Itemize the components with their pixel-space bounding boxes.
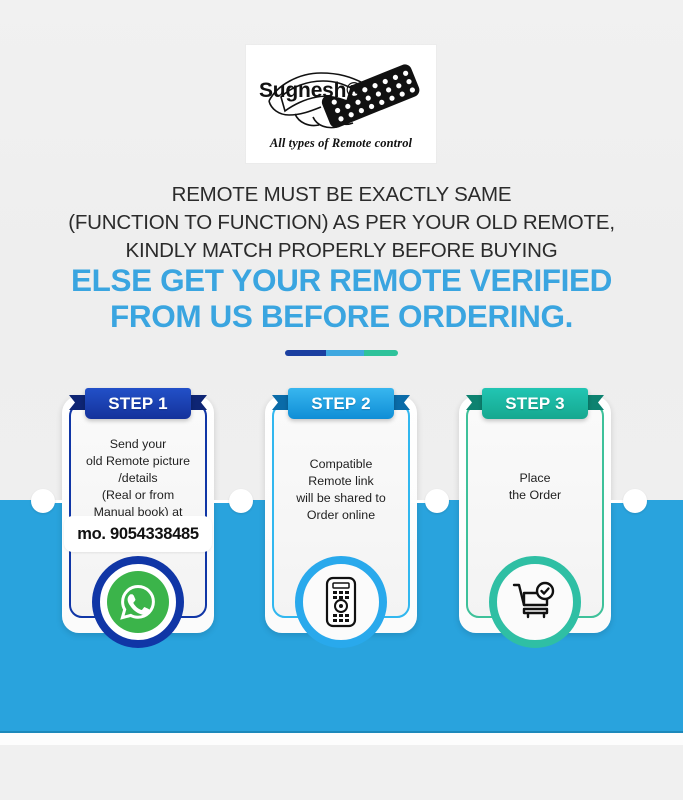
warning-headline-line-2: (FUNCTION TO FUNCTION) AS PER YOUR OLD R… <box>0 209 683 237</box>
connector-dot-2 <box>229 489 253 513</box>
call-to-action-headline: ELSE GET YOUR REMOTE VERIFIED FROM US BE… <box>0 262 683 334</box>
step-1-description: Send your old Remote picture /details (R… <box>62 436 214 521</box>
step-3-line-2: the Order <box>459 487 611 504</box>
logo-brand-text: Sugnesh® <box>259 79 362 103</box>
connector-dot-1 <box>31 489 55 513</box>
logo-tagline: All types of Remote control <box>270 136 412 151</box>
divider-segment-1 <box>285 350 326 356</box>
connector-dot-3 <box>425 489 449 513</box>
step-card-3-tab: STEP 3 <box>482 388 588 421</box>
step-2-tab-body: STEP 2 <box>288 388 394 419</box>
brand-logo: Sugnesh® All types of Remote control <box>246 45 436 163</box>
step-2-line-1: Compatible <box>265 456 417 473</box>
divider-segment-3 <box>364 350 398 356</box>
connector-dot-4 <box>623 489 647 513</box>
hand-holding-remote-icon: Sugnesh® <box>251 57 431 135</box>
step-1-line-1: Send your <box>62 436 214 453</box>
connector-line-3 <box>411 500 426 503</box>
bottom-gray-area <box>0 745 683 800</box>
warning-headline-line-3: KINDLY MATCH PROPERLY BEFORE BUYING <box>0 237 683 265</box>
cta-headline-line-1: ELSE GET YOUR REMOTE VERIFIED <box>0 262 683 298</box>
divider-segment-2 <box>326 350 364 356</box>
cart-check-icon <box>504 571 566 633</box>
section-divider <box>285 350 398 356</box>
step-2-line-3: will be shared to <box>265 490 417 507</box>
connector-line-2 <box>214 500 230 503</box>
step-card-3[interactable]: STEP 3 Place the Order <box>459 388 611 633</box>
step-card-1-tab: STEP 1 <box>85 388 191 421</box>
warning-headline: REMOTE MUST BE EXACTLY SAME (FUNCTION TO… <box>0 181 683 265</box>
step-1-phone-number[interactable]: mo. 9054338485 <box>64 516 212 552</box>
step-2-line-2: Remote link <box>265 473 417 490</box>
step-3-badge <box>489 556 581 648</box>
step-1-line-4: (Real or from <box>62 487 214 504</box>
cta-headline-line-2: FROM US BEFORE ORDERING. <box>0 298 683 334</box>
warning-headline-line-1: REMOTE MUST BE EXACTLY SAME <box>0 181 683 209</box>
step-2-tab-label: STEP 2 <box>311 394 370 414</box>
whatsapp-icon[interactable] <box>107 571 169 633</box>
step-1-line-3: /details <box>62 470 214 487</box>
step-2-badge <box>295 556 387 648</box>
step-3-description: Place the Order <box>459 470 611 504</box>
step-card-2-tab: STEP 2 <box>288 388 394 421</box>
bottom-white-strip <box>0 733 683 745</box>
step-1-line-2: old Remote picture <box>62 453 214 470</box>
step-card-1[interactable]: STEP 1 Send your old Remote picture /det… <box>62 388 214 633</box>
step-card-2[interactable]: STEP 2 Compatible Remote link will be sh… <box>265 388 417 633</box>
step-3-tab-label: STEP 3 <box>505 394 564 414</box>
step-3-tab-body: STEP 3 <box>482 388 588 419</box>
remote-control-icon <box>310 571 372 633</box>
step-1-badge <box>92 556 184 648</box>
step-1-tab-body: STEP 1 <box>85 388 191 419</box>
poster-canvas: Sugnesh® All types of Remote control REM… <box>0 0 683 800</box>
step-3-line-1: Place <box>459 470 611 487</box>
steps-row: STEP 1 Send your old Remote picture /det… <box>0 388 683 648</box>
step-1-tab-label: STEP 1 <box>108 394 167 414</box>
step-1-phone-text: mo. 9054338485 <box>77 525 198 544</box>
step-2-line-4: Order online <box>265 507 417 524</box>
step-2-description: Compatible Remote link will be shared to… <box>265 456 417 524</box>
